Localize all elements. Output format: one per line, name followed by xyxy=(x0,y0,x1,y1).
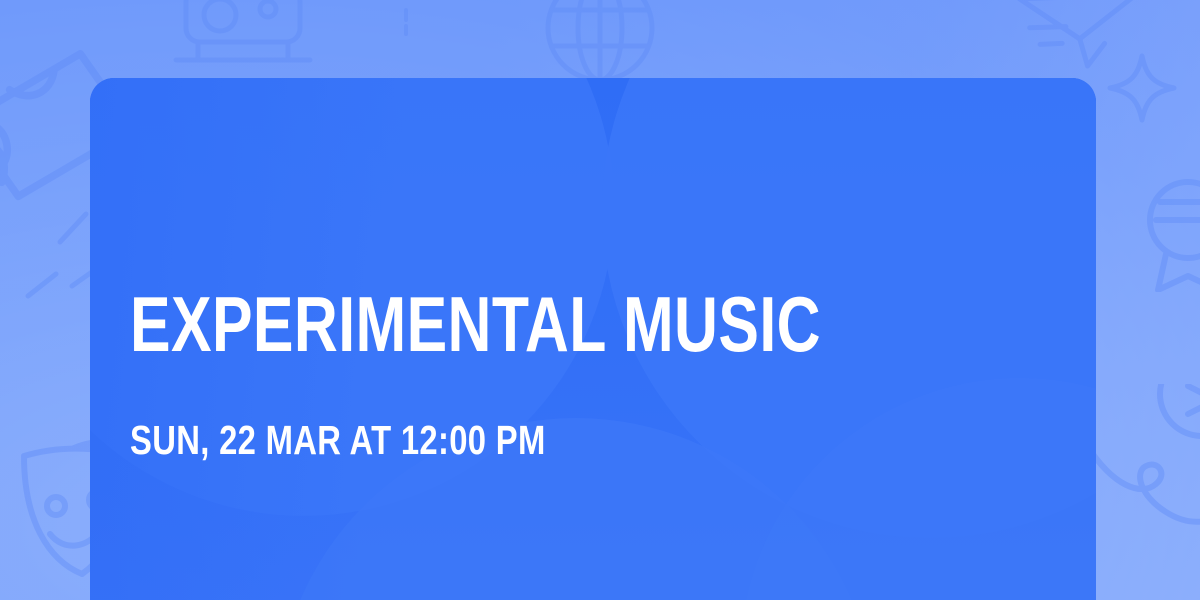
event-title: EXPERIMENTAL MUSIC xyxy=(130,284,821,364)
event-datetime: SUN, 22 MAR AT 12:00 PM xyxy=(130,418,546,462)
event-banner: EXPERIMENTAL MUSIC SUN, 22 MAR AT 12:00 … xyxy=(0,0,1200,600)
event-card-content: EXPERIMENTAL MUSIC SUN, 22 MAR AT 12:00 … xyxy=(130,78,1056,600)
event-card[interactable]: EXPERIMENTAL MUSIC SUN, 22 MAR AT 12:00 … xyxy=(90,78,1096,600)
